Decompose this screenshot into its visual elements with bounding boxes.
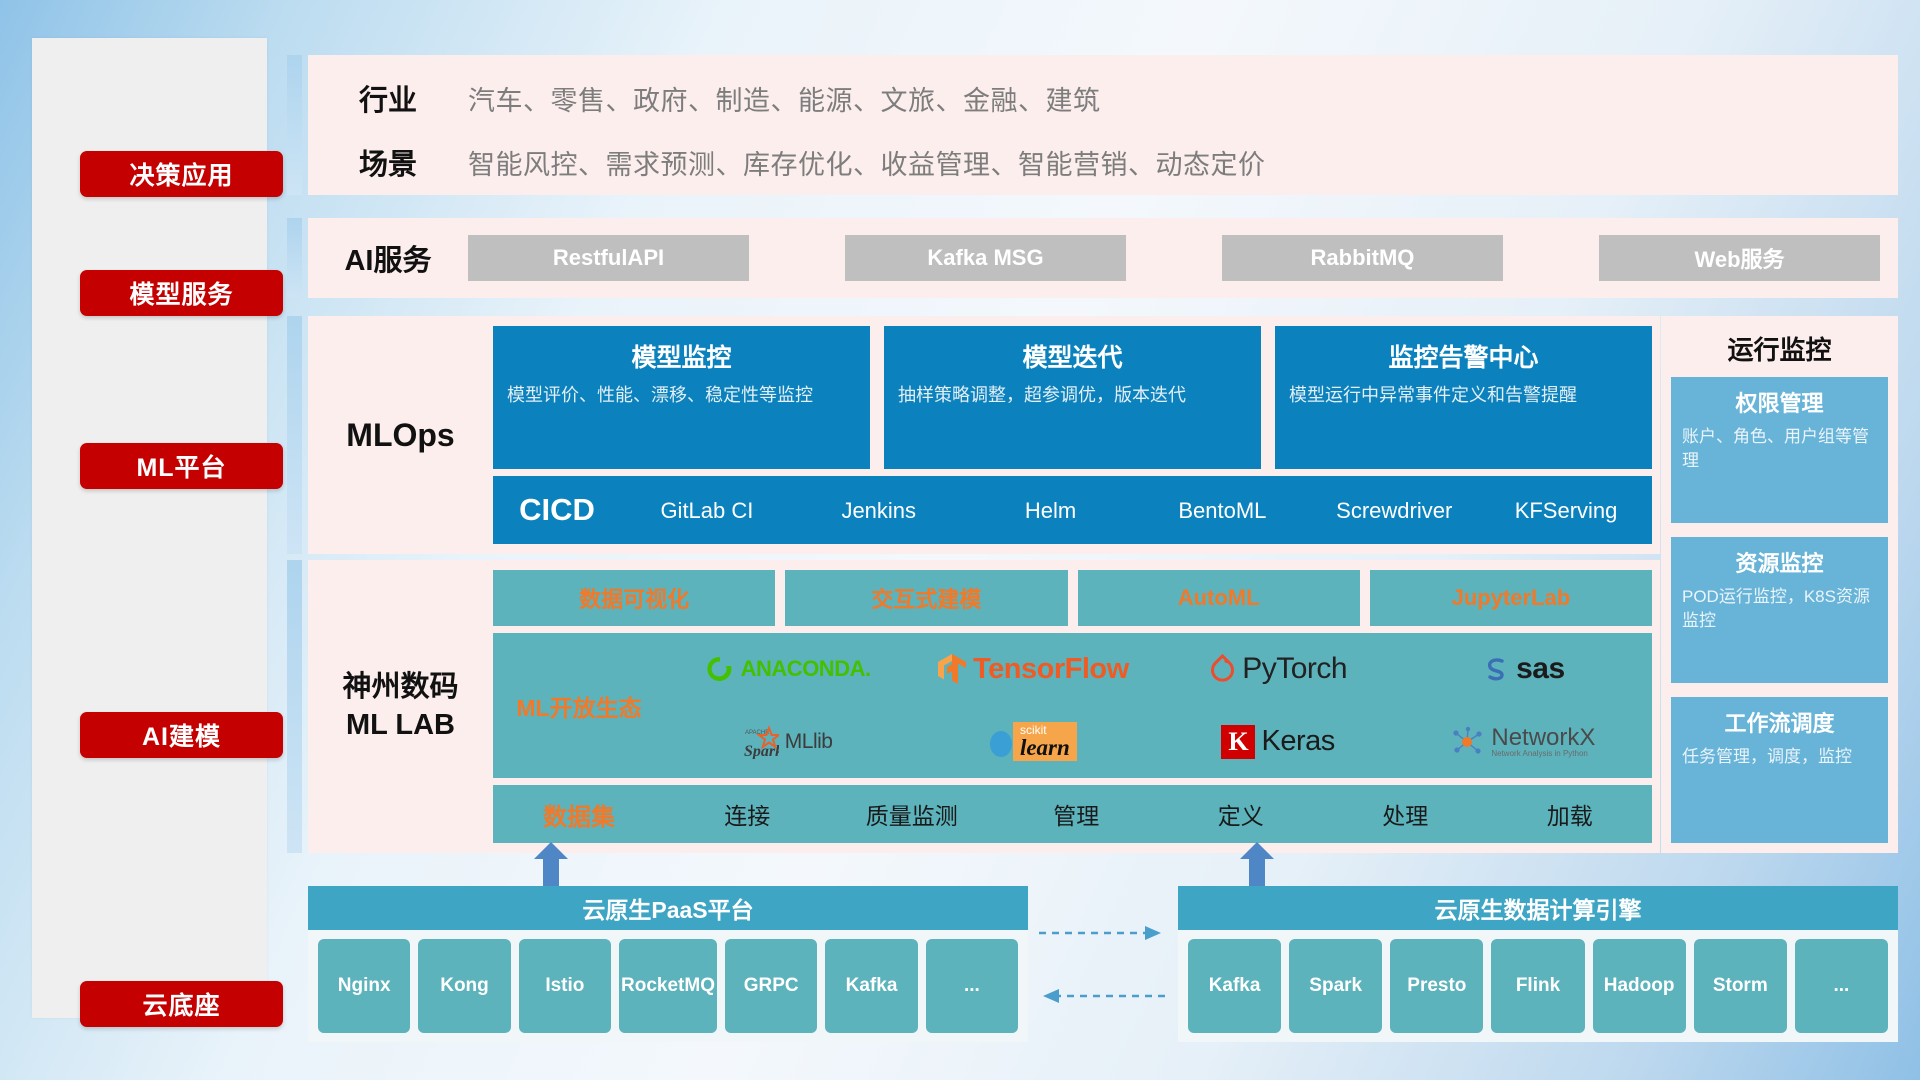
cicd-item-jenkins[interactable]: Jenkins (793, 499, 965, 522)
card-desc: 模型运行中异常事件定义和告警提醒 (1289, 383, 1638, 408)
svg-text:Spark: Spark (744, 743, 779, 759)
stage-label: 模型服务 (129, 275, 233, 311)
service-pill-restfulapi[interactable]: RestfulAPI (468, 235, 749, 281)
engine-chip-presto[interactable]: Presto (1390, 939, 1483, 1033)
engine-chip-hadoop[interactable]: Hadoop (1593, 939, 1686, 1033)
industry-values: 汽车、零售、政府、制造、能源、文旅、金融、建筑 (468, 79, 1101, 118)
card-title: 监控告警中心 (1289, 338, 1638, 374)
up-arrow-data-engine-icon (1240, 842, 1274, 886)
scikit-learn-logo: scikit learn (989, 722, 1077, 761)
dataset-item-process[interactable]: 处理 (1323, 797, 1488, 831)
sas-text: sas (1516, 652, 1565, 686)
cicd-title: CICD (493, 492, 621, 528)
dataset-label: 数据集 (493, 797, 665, 832)
service-pill-rabbitmq[interactable]: RabbitMQ (1222, 235, 1503, 281)
data-compute-engine-group: 云原生数据计算引擎 Kafka Spark Presto Flink Hadoo… (1178, 886, 1898, 1042)
service-pill-kafka-msg[interactable]: Kafka MSG (845, 235, 1126, 281)
sas-icon (1482, 655, 1510, 683)
tool-label: 数据可视化 (579, 582, 689, 614)
learn-text: learn (1020, 736, 1070, 759)
paas-platform-title: 云原生PaaS平台 (308, 886, 1028, 930)
industry-label: 行业 (308, 77, 468, 119)
ml-open-ecosystem-row: ML开放生态 ANACONDA. (493, 633, 1652, 778)
card-desc: 模型评价、性能、漂移、稳定性等监控 (507, 383, 856, 408)
architecture-diagram: 决策应用 模型服务 ML平台 AI建模 云底座 行业 汽车、零售、政府、制造、能… (0, 0, 1920, 1080)
tool-jupyterlab[interactable]: JupyterLab (1370, 570, 1652, 626)
ops-card-title: 工作流调度 (1682, 706, 1877, 738)
networkx-wordmark: NetworkX Network Analysis in Python (1491, 726, 1595, 758)
tool-label: JupyterLab (1452, 585, 1571, 611)
ml-lab-label: 神州数码 ML LAB (308, 560, 493, 853)
dataset-item-manage[interactable]: 管理 (994, 797, 1159, 831)
engine-chip-flink[interactable]: Flink (1491, 939, 1584, 1033)
pytorch-text: PyTorch (1242, 652, 1347, 686)
ops-card-desc: 任务管理，调度，监控 (1682, 745, 1877, 769)
engine-chip-more[interactable]: ... (1795, 939, 1888, 1033)
mllib-text: MLlib (785, 730, 833, 754)
ml-lab-line2: ML LAB (342, 707, 458, 744)
paas-chip-nginx[interactable]: Nginx (318, 939, 410, 1033)
cicd-item-helm[interactable]: Helm (965, 499, 1137, 522)
cicd-item-screwdriver[interactable]: Screwdriver (1308, 499, 1480, 522)
ml-lab-line1: 神州数码 (342, 669, 458, 706)
stage-chip-decision-app[interactable]: 决策应用 (80, 151, 283, 197)
up-arrow-paas-icon (534, 842, 568, 886)
ops-card-desc: 账户、角色、用户组等管理 (1682, 425, 1877, 473)
pytorch-icon (1209, 654, 1236, 684)
dataset-item-load[interactable]: 加载 (1488, 797, 1653, 831)
networkx-tagline: Network Analysis in Python (1491, 750, 1595, 758)
stage-label: AI建模 (142, 717, 221, 753)
cicd-item-bentoml[interactable]: BentoML (1136, 499, 1308, 522)
ai-modeling-band: 神州数码 ML LAB 数据可视化 交互式建模 AutoML JupyterLa… (308, 560, 1660, 853)
dataset-item-define[interactable]: 定义 (1159, 797, 1324, 831)
mlops-label: MLOps (308, 316, 493, 554)
paas-chip-more[interactable]: ... (926, 939, 1018, 1033)
decision-application-band: 行业 汽车、零售、政府、制造、能源、文旅、金融、建筑 场景 智能风控、需求预测、… (308, 55, 1898, 195)
tool-label: 交互式建模 (871, 582, 981, 614)
dataset-row: 数据集 连接 质量监测 管理 定义 处理 加载 (493, 785, 1652, 843)
paas-platform-group: 云原生PaaS平台 Nginx Kong Istio RocketMQ GRPC… (308, 886, 1028, 1042)
engine-chip-spark[interactable]: Spark (1289, 939, 1382, 1033)
ops-card-title: 权限管理 (1682, 386, 1877, 418)
service-pill-web-service[interactable]: Web服务 (1599, 235, 1880, 281)
scikit-learn-wordmark: scikit learn (1013, 722, 1077, 761)
stage-label: 云底座 (142, 986, 220, 1022)
sas-logo: sas (1482, 652, 1565, 686)
spark-mllib-logo: APACHE Spark MLlib (743, 725, 833, 759)
tool-data-visualization[interactable]: 数据可视化 (493, 570, 775, 626)
dataset-item-quality-monitor[interactable]: 质量监测 (830, 797, 995, 831)
mlops-card-alert-center[interactable]: 监控告警中心 模型运行中异常事件定义和告警提醒 (1275, 326, 1652, 469)
dataset-item-connect[interactable]: 连接 (665, 797, 830, 831)
stage-chip-ai-modeling[interactable]: AI建模 (80, 712, 283, 758)
mlops-band: MLOps 模型监控 模型评价、性能、漂移、稳定性等监控 模型迭代 抽样策略调整… (308, 316, 1660, 554)
stage-rail: 决策应用 模型服务 ML平台 AI建模 云底座 (32, 38, 267, 1018)
ops-card-title: 资源监控 (1682, 546, 1877, 578)
tool-automl[interactable]: AutoML (1078, 570, 1360, 626)
networkx-logo: NetworkX Network Analysis in Python (1451, 726, 1595, 758)
keras-mark: K (1221, 725, 1255, 759)
anaconda-icon (705, 654, 735, 684)
cicd-item-kfserving[interactable]: KFServing (1480, 499, 1652, 522)
paas-chip-kafka[interactable]: Kafka (825, 939, 917, 1033)
spark-icon: APACHE Spark (743, 725, 779, 759)
keras-logo: K Keras (1221, 725, 1334, 759)
stage-chip-cloud-foundation[interactable]: 云底座 (80, 981, 283, 1027)
card-title: 模型监控 (507, 338, 856, 374)
industry-row: 行业 汽车、零售、政府、制造、能源、文旅、金融、建筑 (308, 77, 1898, 119)
service-pill-label: Kafka MSG (927, 245, 1043, 271)
ops-panel-title: 运行监控 (1671, 324, 1888, 377)
ops-card-permission-management[interactable]: 权限管理 账户、角色、用户组等管理 (1671, 377, 1888, 523)
cloud-foundation-band: 云原生PaaS平台 Nginx Kong Istio RocketMQ GRPC… (308, 886, 1898, 1042)
tensorflow-icon (937, 653, 967, 685)
keras-text: Keras (1261, 725, 1334, 758)
cicd-bar: CICD GitLab CI Jenkins Helm BentoML Scre… (493, 476, 1652, 544)
ml-ecosystem-label: ML开放生态 (493, 633, 665, 778)
stage-chip-ml-platform[interactable]: ML平台 (80, 443, 283, 489)
cicd-item-gitlab-ci[interactable]: GitLab CI (621, 499, 793, 522)
tool-label: AutoML (1178, 585, 1260, 611)
scenario-row: 场景 智能风控、需求预测、库存优化、收益管理、智能营销、动态定价 (308, 141, 1898, 183)
stage-label: 决策应用 (129, 156, 233, 192)
mlops-card-model-iteration[interactable]: 模型迭代 抽样策略调整，超参调优，版本迭代 (884, 326, 1261, 469)
tensorflow-logo: TensorFlow (937, 653, 1129, 686)
ops-card-desc: POD运行监控，K8S资源监控 (1682, 585, 1877, 633)
anaconda-logo: ANACONDA. (705, 654, 871, 684)
ops-card-resource-monitoring[interactable]: 资源监控 POD运行监控，K8S资源监控 (1671, 537, 1888, 683)
networkx-text: NetworkX (1491, 726, 1595, 750)
ai-service-label: AI服务 (308, 237, 468, 279)
service-pill-label: RabbitMQ (1311, 245, 1415, 271)
paas-chip-kong[interactable]: Kong (418, 939, 510, 1033)
ai-service-band: AI服务 RestfulAPI Kafka MSG RabbitMQ Web服务 (308, 218, 1898, 298)
service-pill-label: RestfulAPI (553, 245, 664, 271)
networkx-icon (1451, 726, 1485, 758)
paas-chip-rocketmq[interactable]: RocketMQ (619, 939, 717, 1033)
ops-card-workflow-scheduling[interactable]: 工作流调度 任务管理，调度，监控 (1671, 697, 1888, 843)
card-title: 模型迭代 (898, 338, 1247, 374)
engine-chip-storm[interactable]: Storm (1694, 939, 1787, 1033)
scenario-label: 场景 (308, 141, 468, 183)
card-desc: 抽样策略调整，超参调优，版本迭代 (898, 383, 1247, 408)
scenario-values: 智能风控、需求预测、库存优化、收益管理、智能营销、动态定价 (468, 143, 1266, 182)
paas-chip-grpc[interactable]: GRPC (725, 939, 817, 1033)
runtime-monitoring-panel: 运行监控 权限管理 账户、角色、用户组等管理 资源监控 POD运行监控，K8S资… (1661, 316, 1898, 853)
engine-chip-kafka[interactable]: Kafka (1188, 939, 1281, 1033)
stage-chip-model-service[interactable]: 模型服务 (80, 270, 283, 316)
tensorflow-text: TensorFlow (973, 653, 1129, 686)
stage-label: ML平台 (136, 448, 226, 484)
service-pill-label: Web服务 (1694, 242, 1784, 274)
pytorch-logo: PyTorch (1209, 652, 1347, 686)
paas-chip-istio[interactable]: Istio (519, 939, 611, 1033)
tool-interactive-modeling[interactable]: 交互式建模 (785, 570, 1067, 626)
data-engine-title: 云原生数据计算引擎 (1178, 886, 1898, 930)
mlops-card-model-monitoring[interactable]: 模型监控 模型评价、性能、漂移、稳定性等监控 (493, 326, 870, 469)
anaconda-text: ANACONDA. (741, 656, 871, 682)
